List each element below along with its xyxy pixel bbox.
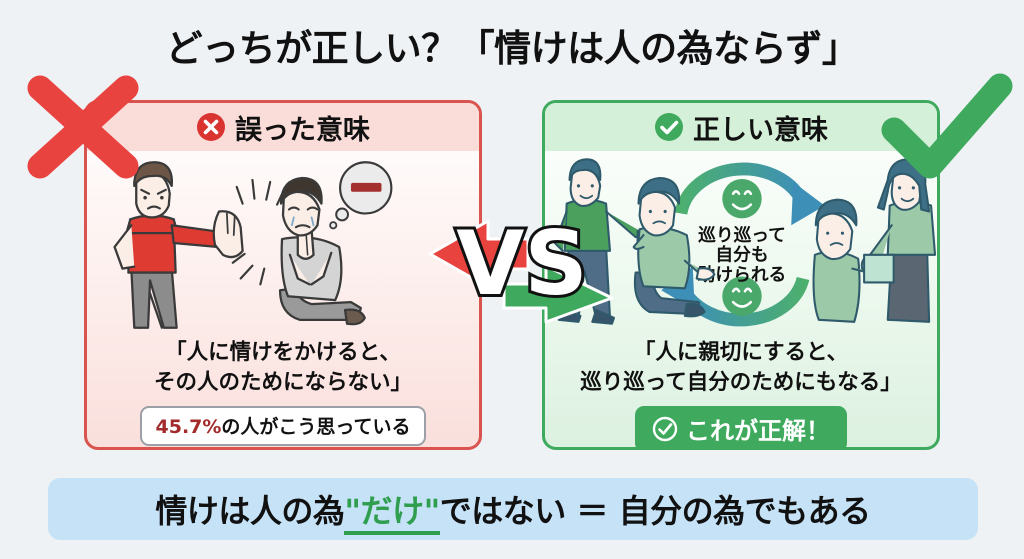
banner-part2: ではない ＝ 自分の為でもある	[440, 492, 871, 530]
circle-check-icon	[654, 112, 684, 142]
versus-indicator: VS	[420, 186, 625, 341]
statistic-badge: 45.7%の人がこう思っている	[140, 406, 427, 446]
page-title: どっちが正しい？「情けは人の為ならず」	[0, 18, 1024, 72]
cycle-text-line1: 巡り巡って	[698, 225, 786, 246]
card-correct-title: 正しい意味	[693, 108, 828, 147]
summary-banner-text: 情けは人の為"だけ"ではない ＝ 自分の為でもある	[155, 486, 870, 532]
circle-check-outline-icon	[652, 416, 678, 442]
stat-percent: 45.7%	[156, 416, 222, 438]
banner-highlight: "だけ"	[344, 492, 439, 535]
circle-x-icon	[196, 112, 226, 142]
thought-bubble-minus	[330, 162, 391, 228]
card-wrong-quote: 「人に情けをかけると、 その人のためにならない」	[87, 338, 479, 397]
card-correct-quote-line2: 巡り巡って自分のためにもなる」	[545, 368, 937, 398]
giving-person-figure	[862, 159, 935, 322]
card-wrong-quote-line1: 「人に情けをかけると、	[87, 338, 479, 368]
banner-part1: 情けは人の為	[155, 492, 344, 530]
card-wrong-title: 誤った意味	[235, 108, 370, 147]
card-wrong-quote-line2: その人のためにならない」	[87, 368, 479, 398]
card-wrong-header: 誤った意味	[87, 103, 479, 151]
large-check-mark-icon	[880, 72, 1015, 182]
angry-man-figure	[115, 162, 243, 327]
stat-badge-row: 45.7%の人がこう思っている	[87, 406, 479, 446]
correct-badge-label: これが正解！	[686, 411, 830, 446]
card-correct-header: 正しい意味	[545, 103, 937, 151]
card-correct-quote-line1: 「人に親切にすると、	[545, 338, 937, 368]
large-x-mark-icon	[22, 72, 144, 182]
correct-badge-row: これが正解！	[545, 406, 937, 450]
stat-suffix: の人がこう思っている	[221, 416, 410, 438]
correct-answer-badge: これが正解！	[635, 406, 847, 450]
summary-banner: 情けは人の為"だけ"ではない ＝ 自分の為でもある	[48, 478, 978, 540]
smiley-face-top	[722, 179, 761, 218]
cycle-text-line2: 自分も	[715, 244, 768, 266]
card-correct-quote: 「人に親切にすると、 巡り巡って自分のためにもなる」	[545, 338, 937, 397]
versus-label: VS	[456, 212, 587, 315]
